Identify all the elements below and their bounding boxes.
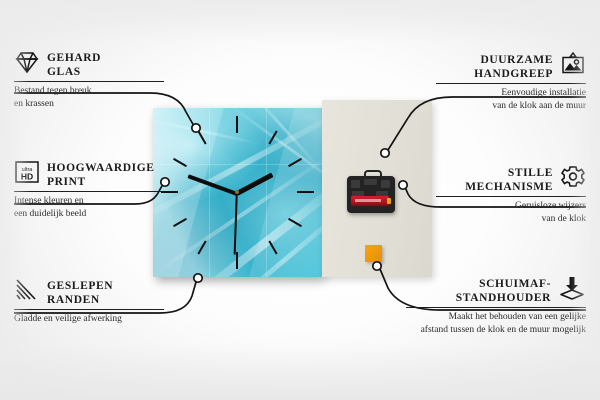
feature-title: HOOGWAARDIGEPRINT [47, 161, 155, 189]
feature-description: Intense kleuren eneen duidelijk beeld [14, 192, 164, 220]
connector-dot-standhouder [373, 262, 381, 270]
feature-description: Gladde en veilige afwerking [14, 310, 164, 326]
feature-title: STILLEMECHANISME [465, 166, 553, 194]
picture-frame-icon [560, 52, 586, 81]
beveled-edges-icon [14, 278, 40, 307]
connector-dot-randen [194, 274, 202, 282]
foam-spacer-icon [558, 276, 586, 305]
feature-hoogwaardige-print[interactable]: ultra HD HOOGWAARDIGEPRINT Intense kleur… [14, 160, 164, 220]
feature-geslepen-randen[interactable]: GESLEPENRANDEN Gladde en veilige afwerki… [14, 278, 164, 326]
feature-gehard-glas[interactable]: GEHARDGLAS Bestand tegen breuken krassen [14, 50, 164, 110]
feature-heading-row: DUURZAMEHANDGREEP [436, 52, 586, 81]
feature-heading-row: STILLEMECHANISME [436, 165, 586, 194]
feature-title: GESLEPENRANDEN [47, 279, 113, 307]
feature-description: Geruisloze wijzersvan de klok [436, 197, 586, 225]
gear-icon [560, 165, 586, 194]
connector-dot-mechanisme [399, 181, 407, 189]
connector-dot-gehard-glas [192, 124, 200, 132]
diamond-icon [14, 50, 40, 79]
feature-description: Bestand tegen breuken krassen [14, 82, 164, 110]
feature-schuimaf-standhouder[interactable]: SCHUIMAF-STANDHOUDER Maakt het behouden … [406, 276, 586, 336]
feature-heading-row: GESLEPENRANDEN [14, 278, 164, 307]
feature-heading-row: ultra HD HOOGWAARDIGEPRINT [14, 160, 164, 189]
feature-heading-row: SCHUIMAF-STANDHOUDER [406, 276, 586, 305]
feature-description: Maakt het behouden van een gelijkeafstan… [406, 308, 586, 336]
infographic-canvas: GEHARDGLAS Bestand tegen breuken krassen… [0, 0, 600, 400]
feature-stille-mechanisme[interactable]: STILLEMECHANISME Geruisloze wijzersvan d… [436, 165, 586, 225]
feature-title: GEHARDGLAS [47, 51, 101, 79]
feature-duurzame-handgreep[interactable]: DUURZAMEHANDGREEP Eenvoudige installatie… [436, 52, 586, 112]
feature-description: Eenvoudige installatievan de klok aan de… [436, 84, 586, 112]
svg-text:HD: HD [21, 172, 33, 182]
ultra-hd-icon: ultra HD [14, 160, 40, 189]
feature-title: DUURZAMEHANDGREEP [474, 53, 553, 81]
feature-heading-row: GEHARDGLAS [14, 50, 164, 79]
connector-dot-handgreep [381, 149, 389, 157]
feature-title: SCHUIMAF-STANDHOUDER [456, 277, 551, 305]
